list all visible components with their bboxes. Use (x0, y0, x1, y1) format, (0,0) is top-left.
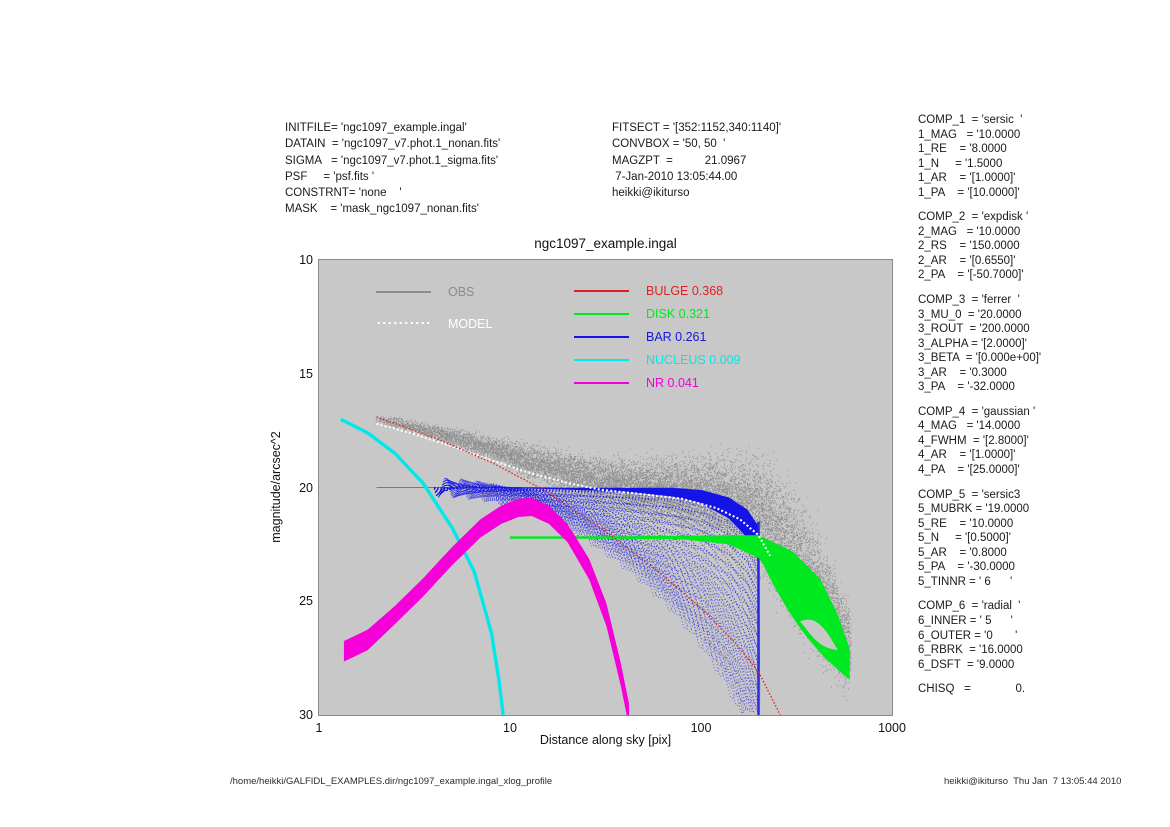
parameter-group: COMP_6 = 'radial ' 6_INNER = ' 5 ' 6_OUT… (918, 599, 1041, 672)
profile-plot: 10152025301101001000OBSMODELBULGE 0.368D… (318, 259, 893, 716)
parameter-group-spacer (918, 672, 1041, 682)
y-axis-tick: 15 (299, 367, 313, 381)
parameter-group: COMP_1 = 'sersic ' 1_MAG = '10.0000 1_RE… (918, 113, 1041, 200)
footer-path: /home/heikki/GALFIDL_EXAMPLES.dir/ngc109… (230, 776, 552, 787)
parameter-group-spacer (918, 395, 1041, 405)
y-axis-tick: 10 (299, 253, 313, 267)
legend-line-swatch (574, 359, 629, 361)
parameter-group-spacer (918, 283, 1041, 293)
header-left-block: INITFILE= 'ngc1097_example.ingal' DATAIN… (285, 120, 500, 218)
legend-line-swatch (376, 291, 431, 293)
parameter-group-spacer (918, 478, 1041, 488)
header-middle-block: FITSECT = '[352:1152,340:1140]' CONVBOX … (612, 120, 781, 201)
plot-canvas (319, 260, 892, 715)
plot-title: ngc1097_example.ingal (318, 236, 893, 251)
parameter-group: COMP_5 = 'sersic3 5_MUBRK = '19.0000 5_R… (918, 488, 1041, 590)
legend-label: BULGE 0.368 (646, 284, 723, 298)
legend-label: OBS (448, 285, 474, 299)
x-axis-label: Distance along sky [pix] (318, 733, 893, 747)
component-parameter-list: COMP_1 = 'sersic ' 1_MAG = '10.0000 1_RE… (918, 113, 1041, 697)
legend-line-swatch (574, 313, 629, 315)
legend-label: DISK 0.321 (646, 307, 710, 321)
legend-line-swatch (376, 322, 431, 324)
legend-label: NR 0.041 (646, 376, 699, 390)
footer-user-time: heikki@ikiturso Thu Jan 7 13:05:44 2010 (944, 776, 1121, 787)
legend-line-swatch (574, 382, 629, 384)
y-axis-tick: 30 (299, 708, 313, 722)
parameter-group: COMP_3 = 'ferrer ' 3_MU_0 = '20.0000 3_R… (918, 293, 1041, 395)
legend-line-swatch (574, 336, 629, 338)
parameter-group: COMP_2 = 'expdisk ' 2_MAG = '10.0000 2_R… (918, 210, 1041, 283)
parameter-group-spacer (918, 200, 1041, 210)
nucleus-line (341, 419, 503, 715)
y-axis-label: magnitude/arcsec^2 (269, 431, 283, 542)
legend-label: BAR 0.261 (646, 330, 706, 344)
y-axis-tick: 25 (299, 594, 313, 608)
parameter-group: CHISQ = 0. (918, 682, 1041, 697)
legend-label: MODEL (448, 317, 492, 331)
y-axis-tick: 20 (299, 481, 313, 495)
parameter-group-spacer (918, 589, 1041, 599)
legend-line-swatch (574, 290, 629, 292)
parameter-group: COMP_4 = 'gaussian ' 4_MAG = '14.0000 4_… (918, 405, 1041, 478)
legend-label: NUCLEUS 0.009 (646, 353, 741, 367)
